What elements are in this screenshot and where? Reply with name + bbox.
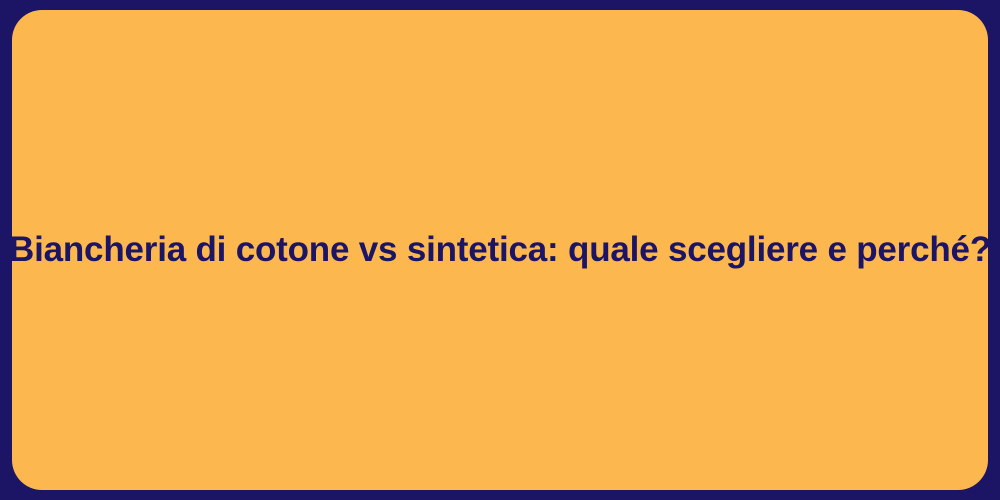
banner-title: Biancheria di cotone vs sintetica: quale… <box>0 228 1000 272</box>
banner-card: Biancheria di cotone vs sintetica: quale… <box>12 10 988 490</box>
banner-frame: Biancheria di cotone vs sintetica: quale… <box>0 0 1000 500</box>
